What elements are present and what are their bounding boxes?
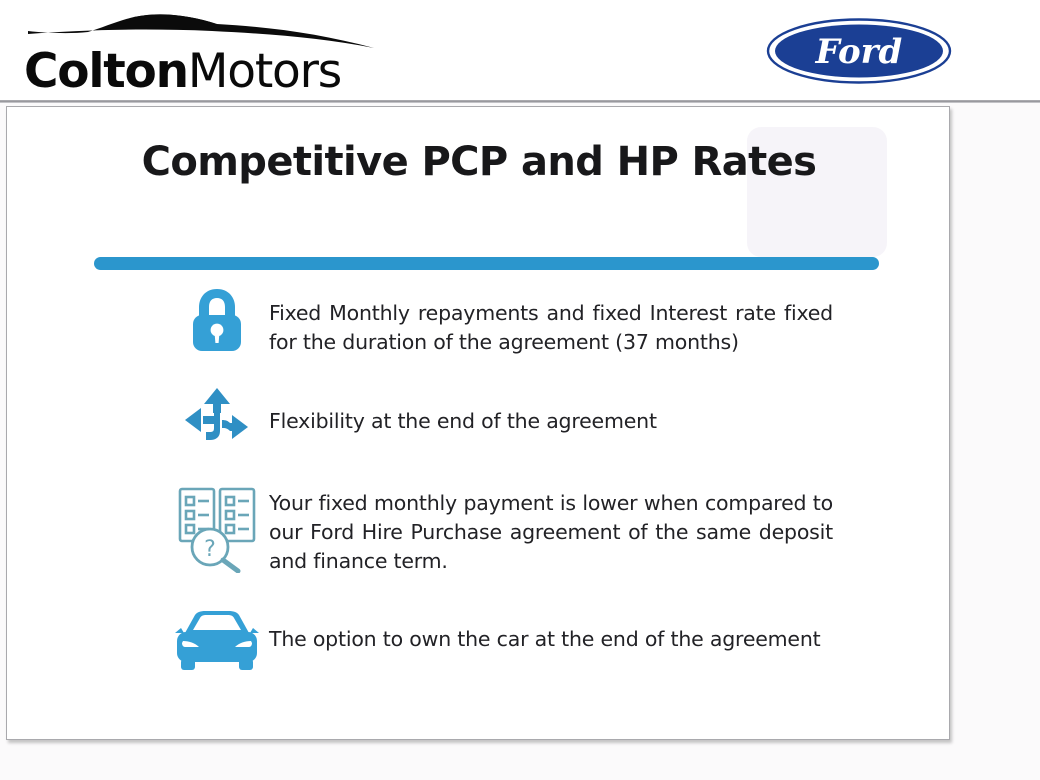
- list-item: The option to own the car at the end of …: [7, 603, 950, 699]
- content-card: Competitive PCP and HP Rates Fixed Month…: [6, 106, 950, 740]
- title-underline-bar: [94, 257, 879, 270]
- padlock-icon: [165, 285, 269, 353]
- brand-name-secondary: Motors: [188, 44, 341, 99]
- list-item-label: The option to own the car at the end of …: [269, 603, 950, 654]
- page-header: ColtonMotors Ford: [0, 0, 1040, 100]
- document-comparison-search-icon: ?: [165, 479, 269, 573]
- list-item-label: Flexibility at the end of the agreement: [269, 383, 950, 436]
- car-front-icon: [165, 603, 269, 673]
- page-title: Competitive PCP and HP Rates: [67, 135, 891, 189]
- list-item: Flexibility at the end of the agreement: [7, 383, 950, 473]
- question-mark-glyph: ?: [204, 537, 216, 562]
- header-divider-rule: [0, 100, 1040, 103]
- brand-wordmark: ColtonMotors: [24, 44, 341, 99]
- ford-script-text: Ford: [815, 32, 903, 72]
- ford-oval-logo: Ford: [766, 17, 952, 85]
- three-way-arrows-icon: [165, 383, 269, 449]
- brand-name-primary: Colton: [24, 44, 188, 99]
- list-item-label: Your fixed monthly payment is lower when…: [269, 479, 950, 576]
- benefits-list: Fixed Monthly repayments and fixed Inter…: [7, 285, 950, 705]
- list-item: Fixed Monthly repayments and fixed Inter…: [7, 285, 950, 377]
- list-item-label: Fixed Monthly repayments and fixed Inter…: [269, 285, 950, 357]
- colton-motors-logo: ColtonMotors: [22, 8, 382, 100]
- list-item: ? Your fixed monthly payment is lower wh…: [7, 479, 950, 597]
